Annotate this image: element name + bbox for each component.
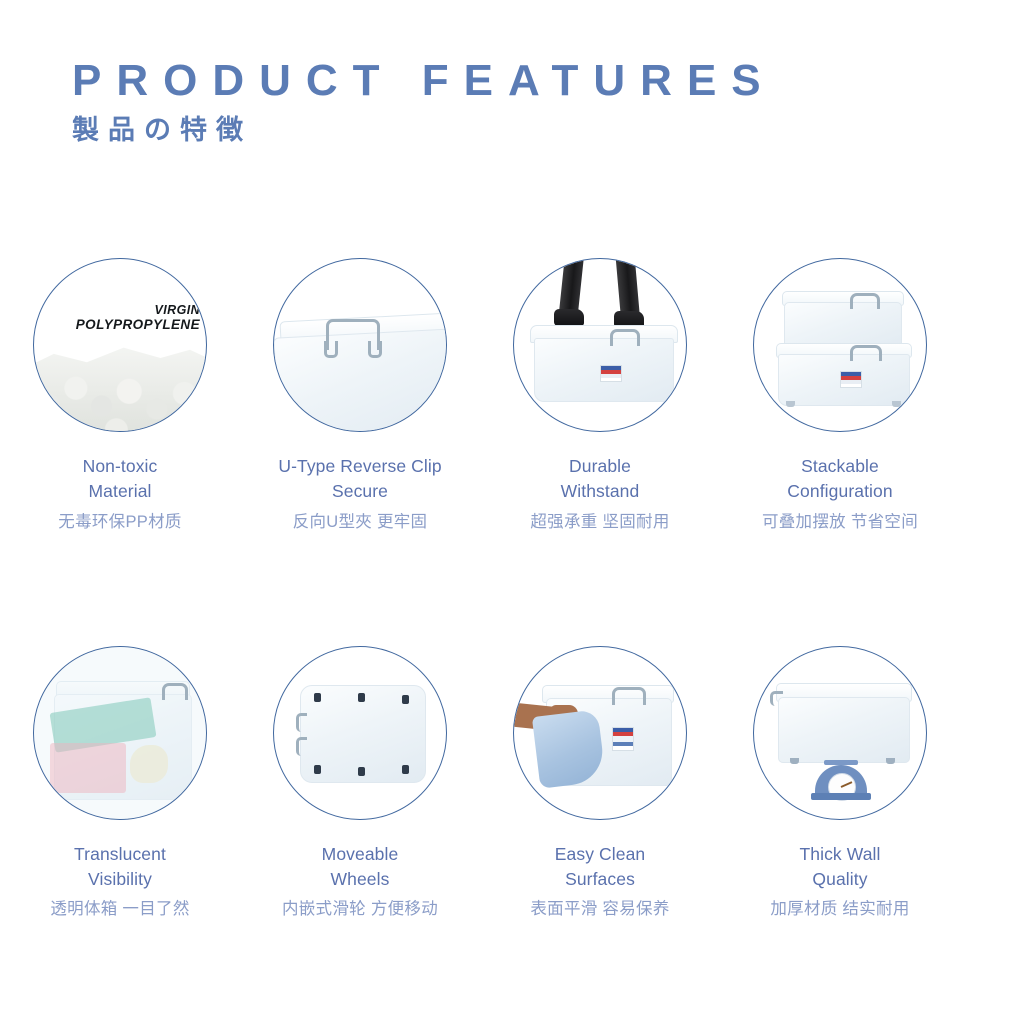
upper-box-clip	[850, 293, 880, 309]
thickness-illustration	[754, 647, 926, 819]
caption-en: Durable Withstand	[480, 454, 720, 504]
left-boot-icon	[554, 309, 584, 326]
product-sticker	[612, 727, 634, 751]
caption-en-line-2: Surfaces	[480, 867, 720, 892]
feature-grid: VIRGIN POLYPROPYLENE Non-toxic Material …	[0, 258, 1024, 922]
feature-caption: U-Type Reverse Clip Secure 反向U型夾 更牢固	[240, 454, 480, 534]
wheel-icon	[402, 765, 409, 774]
caption-en: Stackable Configuration	[720, 454, 960, 504]
feature-caption: Moveable Wheels 内嵌式滑轮 方便移动	[240, 842, 480, 922]
caption-en: Thick Wall Quality	[720, 842, 960, 892]
feature-image-box-underside	[273, 646, 447, 820]
wheel-icon	[886, 758, 895, 764]
durability-illustration	[514, 259, 686, 431]
plastic-pellets-icon	[34, 331, 206, 431]
u-clip-left-foot	[324, 341, 338, 358]
translucency-illustration	[34, 647, 206, 819]
wheel-icon	[892, 401, 901, 407]
u-type-clip-icon	[610, 329, 640, 346]
caption-cn: 无毒环保PP材质	[0, 511, 240, 534]
caption-en-line-1: Easy Clean	[480, 842, 720, 867]
feature-item-moveable-wheels[interactable]: Moveable Wheels 内嵌式滑轮 方便移动	[240, 646, 480, 922]
caption-en-line-1: Durable	[480, 454, 720, 479]
caption-cn: 可叠加摆放 节省空间	[720, 511, 960, 534]
feature-caption: Durable Withstand 超强承重 坚固耐用	[480, 454, 720, 534]
caption-en-line-2: Material	[0, 479, 240, 504]
feature-row-bottom: Translucent Visibility 透明体箱 一目了然	[0, 646, 1024, 922]
product-sticker	[840, 371, 862, 388]
feature-image-hand-wiping-box	[513, 646, 687, 820]
feature-row-top: VIRGIN POLYPROPYLENE Non-toxic Material …	[0, 258, 1024, 534]
feature-image-plastic-pellets: VIRGIN POLYPROPYLENE	[33, 258, 207, 432]
page-subtitle: 製品の特徴	[72, 116, 952, 146]
caption-cn: 反向U型夾 更牢固	[240, 511, 480, 534]
feature-image-stacked-boxes	[753, 258, 927, 432]
caption-en-line-2: Quality	[720, 867, 960, 892]
wheel-icon	[358, 767, 365, 776]
feature-item-easy-clean-surfaces[interactable]: Easy Clean Surfaces 表面平滑 容易保养	[480, 646, 720, 922]
wheels-illustration	[274, 647, 446, 819]
feature-caption: Thick Wall Quality 加厚材质 结实耐用	[720, 842, 960, 922]
caption-en-line-2: Configuration	[720, 479, 960, 504]
cleaning-illustration	[514, 647, 686, 819]
wheel-icon	[786, 401, 795, 407]
wheel-icon	[314, 765, 321, 774]
u-type-clip-icon	[612, 687, 646, 705]
translucent-overlay	[34, 647, 206, 819]
feature-caption: Easy Clean Surfaces 表面平滑 容易保养	[480, 842, 720, 922]
feature-image-box-on-scale	[753, 646, 927, 820]
caption-en-line-2: Withstand	[480, 479, 720, 504]
feature-caption: Non-toxic Material 无毒环保PP材质	[0, 454, 240, 534]
feature-item-translucent-visibility[interactable]: Translucent Visibility 透明体箱 一目了然	[0, 646, 240, 922]
virgin-polypropylene-label: VIRGIN POLYPROPYLENE	[76, 303, 200, 332]
caption-en-line-2: Visibility	[0, 867, 240, 892]
feature-item-non-toxic-material[interactable]: VIRGIN POLYPROPYLENE Non-toxic Material …	[0, 258, 240, 534]
feature-image-box-contents	[33, 646, 207, 820]
scale-needle	[841, 781, 853, 788]
caption-en-line-1: Non-toxic	[0, 454, 240, 479]
wheel-icon	[314, 693, 321, 702]
caption-cn: 内嵌式滑轮 方便移动	[240, 898, 480, 921]
caption-cn: 表面平滑 容易保养	[480, 898, 720, 921]
wheel-icon	[358, 693, 365, 702]
feature-item-stackable-configuration[interactable]: Stackable Configuration 可叠加摆放 节省空间	[720, 258, 960, 534]
feature-image-box-clip	[273, 258, 447, 432]
product-sticker	[600, 365, 622, 382]
caption-en: Easy Clean Surfaces	[480, 842, 720, 892]
right-leg-shape	[615, 259, 639, 316]
caption-en-line-1: Translucent	[0, 842, 240, 867]
feature-caption: Translucent Visibility 透明体箱 一目了然	[0, 842, 240, 922]
caption-en: Non-toxic Material	[0, 454, 240, 504]
box-body-shape	[778, 697, 910, 763]
caption-en-line-2: Wheels	[240, 867, 480, 892]
feature-item-thick-wall-quality[interactable]: Thick Wall Quality 加厚材质 结实耐用	[720, 646, 960, 922]
left-leg-shape	[559, 259, 584, 316]
feature-item-durable-withstand[interactable]: Durable Withstand 超强承重 坚固耐用	[480, 258, 720, 534]
caption-en-line-1: Moveable	[240, 842, 480, 867]
u-clip-right-foot	[368, 341, 382, 358]
overlay-line-1: VIRGIN	[76, 303, 200, 317]
lower-box-clip	[850, 345, 882, 361]
caption-cn: 透明体箱 一目了然	[0, 898, 240, 921]
page-title: PRODUCT FEATURES	[72, 58, 952, 104]
wheel-icon	[790, 758, 799, 764]
scale-base	[811, 793, 871, 800]
feature-caption: Stackable Configuration 可叠加摆放 节省空间	[720, 454, 960, 534]
pellets-illustration: VIRGIN POLYPROPYLENE	[34, 259, 206, 431]
feature-item-u-type-reverse-clip[interactable]: U-Type Reverse Clip Secure 反向U型夾 更牢固	[240, 258, 480, 534]
caption-en: Moveable Wheels	[240, 842, 480, 892]
caption-cn: 加厚材质 结实耐用	[720, 898, 960, 921]
caption-en-line-1: Thick Wall	[720, 842, 960, 867]
side-clip-icon	[296, 713, 307, 732]
side-clip-icon	[296, 737, 307, 756]
wheel-icon	[402, 695, 409, 704]
upper-box-body	[784, 302, 902, 348]
u-type-clip-icon	[162, 683, 188, 700]
caption-en-line-2: Secure	[240, 479, 480, 504]
feature-image-person-on-box	[513, 258, 687, 432]
caption-en: Translucent Visibility	[0, 842, 240, 892]
side-clip-icon	[770, 691, 783, 706]
caption-en: U-Type Reverse Clip Secure	[240, 454, 480, 504]
caption-en-line-1: U-Type Reverse Clip	[240, 454, 480, 479]
overlay-line-2: POLYPROPYLENE	[76, 317, 200, 332]
page-header: PRODUCT FEATURES 製品の特徴	[72, 58, 952, 146]
caption-cn: 超强承重 坚固耐用	[480, 511, 720, 534]
caption-en-line-1: Stackable	[720, 454, 960, 479]
stackable-illustration	[754, 259, 926, 431]
clip-illustration	[274, 259, 446, 431]
weighing-scale-icon	[815, 765, 867, 797]
